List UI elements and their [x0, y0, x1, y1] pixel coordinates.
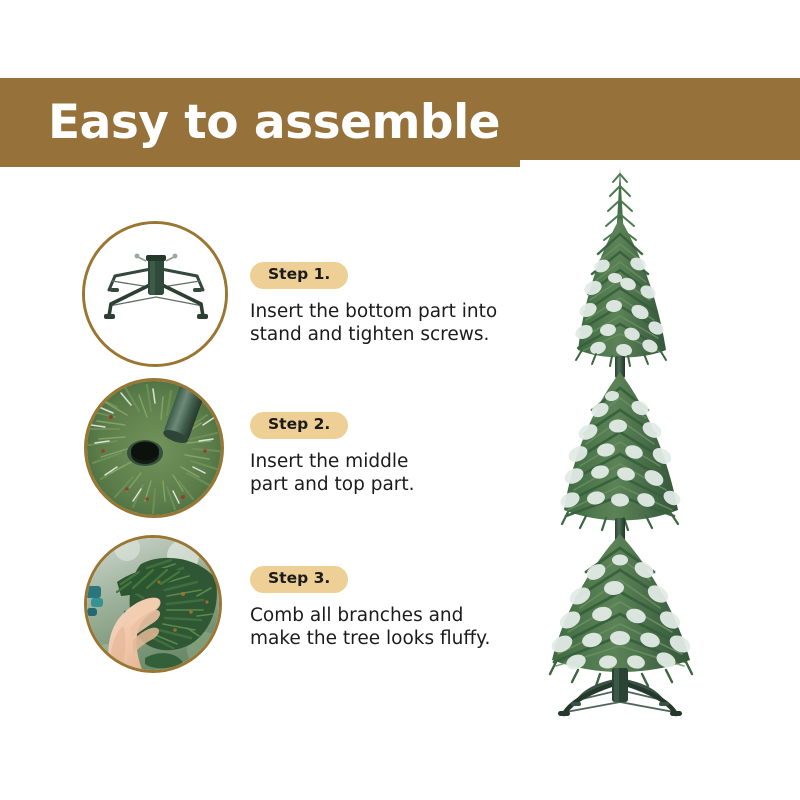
- step-2-description: Insert the middle part and top part.: [250, 450, 510, 496]
- comb-branches-photo: [84, 535, 222, 673]
- step-3-description: Comb all branches and make the tree look…: [250, 604, 510, 650]
- christmas-tree-illustration: [520, 160, 800, 720]
- page-root: Easy to assemble: [0, 0, 800, 800]
- step-1-badge: Step 1.: [250, 262, 348, 289]
- step-item-3: Step 3. Comb all branches and make the t…: [0, 518, 520, 668]
- step-item-1: Step 1. Insert the bottom part into stan…: [0, 210, 520, 360]
- step-2-text: Step 2. Insert the middle part and top p…: [250, 412, 510, 496]
- pole-insert-photo: [84, 378, 224, 518]
- tree-stand-photo: [82, 221, 228, 367]
- header-banner: Easy to assemble: [0, 78, 800, 167]
- step-1-text: Step 1. Insert the bottom part into stan…: [250, 262, 510, 346]
- step-1-description: Insert the bottom part into stand and ti…: [250, 300, 510, 346]
- steps-list: Step 1. Insert the bottom part into stan…: [0, 210, 520, 710]
- page-title: Easy to assemble: [48, 99, 500, 146]
- step-3-text: Step 3. Comb all branches and make the t…: [250, 566, 510, 650]
- product-tree-image: [520, 160, 800, 720]
- step-2-badge: Step 2.: [250, 412, 348, 439]
- comb-branches-illustration: [87, 538, 219, 670]
- tree-stand-illustration: [85, 224, 225, 364]
- step-3-badge: Step 3.: [250, 566, 348, 593]
- pole-insert-illustration: [87, 381, 221, 515]
- step-item-2: Step 2. Insert the middle part and top p…: [0, 364, 520, 514]
